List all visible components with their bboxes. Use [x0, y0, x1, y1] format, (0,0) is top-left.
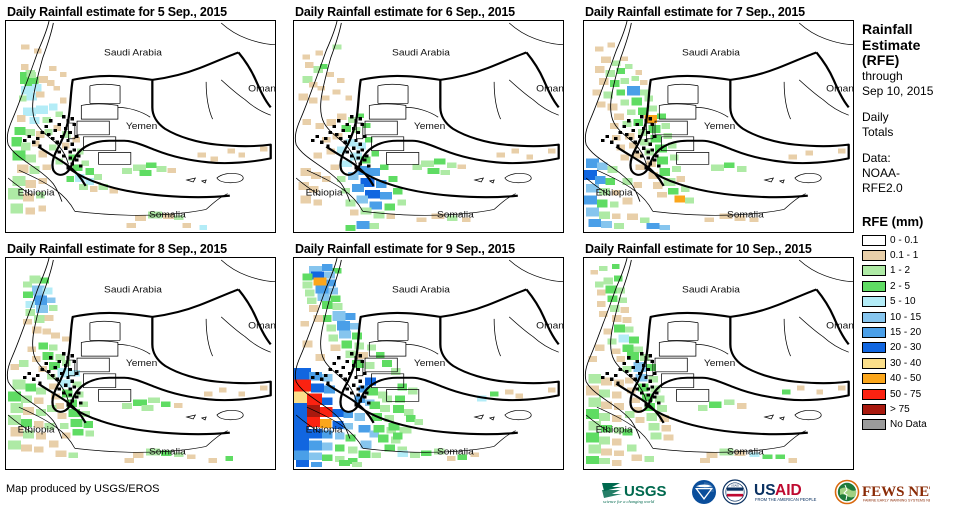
legend-label: 15 - 20 — [890, 327, 921, 338]
legend-label: 20 - 30 — [890, 342, 921, 353]
usgs-logo: USGS science for a changing world — [600, 479, 686, 505]
fews-net-logo: FEWS NET FAMINE EARLY WARNING SYSTEMS NE… — [834, 479, 930, 505]
legend-label: 2 - 5 — [890, 281, 910, 292]
legend-item: 30 - 40 — [862, 356, 967, 371]
panel-10-sep-map[interactable]: Saudi ArabiaOmanYemenEthiopiaSomalia — [583, 257, 854, 470]
country-label-somalia: Somalia — [437, 447, 474, 457]
data-source-label: Data: — [862, 151, 967, 166]
legend-item: 20 - 30 — [862, 340, 967, 355]
rfe-title-line2: Estimate — [862, 38, 967, 54]
legend-label: 0.1 - 1 — [890, 250, 918, 261]
rfe-title-line1: Rainfall — [862, 22, 967, 38]
legend-swatch — [862, 389, 886, 400]
map-credit-text: Map produced by USGS/EROS — [6, 483, 159, 495]
country-label-oman: Oman — [826, 321, 853, 331]
country-label-yemen: Yemen — [704, 121, 735, 131]
legend-swatch — [862, 265, 886, 276]
country-label-ethiopia: Ethiopia — [18, 188, 55, 198]
legend-item: 15 - 20 — [862, 325, 967, 340]
country-label-saudi-arabia: Saudi Arabia — [392, 285, 450, 295]
country-label-somalia: Somalia — [727, 447, 764, 457]
legend-swatch — [862, 312, 886, 323]
country-label-saudi-arabia: Saudi Arabia — [682, 285, 740, 295]
country-label-oman: Oman — [536, 321, 563, 331]
legend-item: 40 - 50 — [862, 371, 967, 386]
panel-5-sep-title: Daily Rainfall estimate for 5 Sep., 2015 — [7, 5, 227, 19]
legend-swatch — [862, 250, 886, 261]
panel-8-sep-title: Daily Rainfall estimate for 8 Sep., 2015 — [7, 242, 227, 256]
panel-7-sep-title: Daily Rainfall estimate for 7 Sep., 2015 — [585, 5, 805, 19]
country-label-yemen: Yemen — [414, 121, 445, 131]
panel-6-sep-map[interactable]: Saudi ArabiaOmanYemenEthiopiaSomalia — [293, 20, 564, 233]
svg-text:USGS: USGS — [624, 483, 667, 500]
legend-label: 1 - 2 — [890, 265, 910, 276]
legend-item: 5 - 10 — [862, 294, 967, 309]
panel-10-sep-title: Daily Rainfall estimate for 10 Sep., 201… — [585, 242, 812, 256]
country-label-somalia: Somalia — [149, 447, 186, 457]
country-label-saudi-arabia: Saudi Arabia — [682, 48, 740, 58]
country-label-oman: Oman — [826, 84, 853, 94]
panel-7-sep-map[interactable]: Saudi ArabiaOmanYemenEthiopiaSomalia — [583, 20, 854, 233]
legend-label: 5 - 10 — [890, 296, 916, 307]
country-label-somalia: Somalia — [149, 210, 186, 220]
svg-text:FROM THE AMERICAN PEOPLE: FROM THE AMERICAN PEOPLE — [755, 497, 817, 502]
panel-9-sep: Daily Rainfall estimate for 9 Sep., 2015… — [293, 242, 515, 256]
country-label-somalia: Somalia — [437, 210, 474, 220]
country-label-yemen: Yemen — [704, 358, 735, 368]
svg-text:FAMINE EARLY WARNING SYSTEMS N: FAMINE EARLY WARNING SYSTEMS NETWORK — [863, 499, 930, 503]
legend-item: 0 - 0.1 — [862, 233, 967, 248]
country-label-yemen: Yemen — [414, 358, 445, 368]
country-label-ethiopia: Ethiopia — [306, 425, 343, 435]
country-label-saudi-arabia: Saudi Arabia — [104, 48, 162, 58]
country-label-ethiopia: Ethiopia — [596, 425, 633, 435]
country-label-yemen: Yemen — [126, 121, 157, 131]
legend-item: 0.1 - 1 — [862, 248, 967, 263]
country-label-saudi-arabia: Saudi Arabia — [392, 48, 450, 58]
legend-swatch — [862, 342, 886, 353]
legend-rows: 0 - 0.10.1 - 11 - 22 - 55 - 1010 - 1515 … — [862, 233, 967, 433]
rfe-through-label: through — [862, 69, 967, 84]
rainfall-map-svg: Saudi ArabiaOmanYemenEthiopiaSomalia — [584, 21, 853, 232]
legend-label: 10 - 15 — [890, 312, 921, 323]
rfe-title-line3: (RFE) — [862, 53, 967, 69]
right-information-column: Rainfall Estimate (RFE) through Sep 10, … — [862, 0, 967, 511]
country-label-oman: Oman — [536, 84, 563, 94]
panel-8-sep-map[interactable]: Saudi ArabiaOmanYemenEthiopiaSomalia — [5, 257, 276, 470]
panel-6-sep: Daily Rainfall estimate for 6 Sep., 2015… — [293, 5, 515, 19]
legend-label: > 75 — [890, 404, 910, 415]
usaid-wordmark: US AID FROM THE AMERICAN PEOPLE — [753, 479, 829, 505]
country-label-yemen: Yemen — [126, 358, 157, 368]
country-label-somalia: Somalia — [727, 210, 764, 220]
country-label-ethiopia: Ethiopia — [306, 188, 343, 198]
legend-item: 50 - 75 — [862, 386, 967, 401]
legend-swatch — [862, 281, 886, 292]
svg-text:science for a changing world: science for a changing world — [603, 499, 655, 504]
country-label-ethiopia: Ethiopia — [596, 188, 633, 198]
legend-swatch — [862, 419, 886, 430]
legend-title: RFE (mm) — [862, 214, 967, 229]
legend-swatch — [862, 404, 886, 415]
panel-6-sep-title: Daily Rainfall estimate for 6 Sep., 2015 — [295, 5, 515, 19]
svg-text:USAID: USAID — [731, 483, 739, 487]
legend-label: 40 - 50 — [890, 373, 921, 384]
panel-7-sep: Daily Rainfall estimate for 7 Sep., 2015… — [583, 5, 805, 19]
legend-swatch — [862, 296, 886, 307]
legend-item: > 75 — [862, 402, 967, 417]
panel-9-sep-map[interactable]: Saudi ArabiaOmanYemenEthiopiaSomalia — [293, 257, 564, 470]
legend-item: 2 - 5 — [862, 279, 967, 294]
rainfall-map-svg: Saudi ArabiaOmanYemenEthiopiaSomalia — [6, 21, 275, 232]
data-source-line2: NOAA- — [862, 166, 967, 181]
logo-bar: USGS science for a changing world USAID … — [600, 477, 930, 507]
svg-text:FEWS NET: FEWS NET — [862, 484, 930, 500]
legend-label: 50 - 75 — [890, 389, 921, 400]
rainfall-map-svg: Saudi ArabiaOmanYemenEthiopiaSomalia — [584, 258, 853, 469]
panel-8-sep: Daily Rainfall estimate for 8 Sep., 2015… — [5, 242, 227, 256]
country-label-oman: Oman — [248, 321, 275, 331]
country-label-ethiopia: Ethiopia — [18, 425, 55, 435]
panel-9-sep-title: Daily Rainfall estimate for 9 Sep., 2015 — [295, 242, 515, 256]
panel-10-sep: Daily Rainfall estimate for 10 Sep., 201… — [583, 242, 812, 256]
panel-5-sep: Daily Rainfall estimate for 5 Sep., 2015… — [5, 5, 227, 19]
legend-swatch — [862, 358, 886, 369]
country-label-saudi-arabia: Saudi Arabia — [104, 285, 162, 295]
legend-item: 10 - 15 — [862, 309, 967, 324]
legend-swatch — [862, 235, 886, 246]
panel-5-sep-map[interactable]: Saudi ArabiaOmanYemenEthiopiaSomalia — [5, 20, 276, 233]
usaid-seal-icon: USAID — [722, 479, 748, 505]
legend-swatch — [862, 327, 886, 338]
data-source-line3: RFE2.0 — [862, 181, 967, 196]
totals-line2: Totals — [862, 125, 967, 140]
totals-line1: Daily — [862, 110, 967, 125]
rainfall-map-svg: Saudi ArabiaOmanYemenEthiopiaSomalia — [6, 258, 275, 469]
legend-item: No Data — [862, 417, 967, 432]
legend-label: No Data — [890, 419, 927, 430]
country-label-oman: Oman — [248, 84, 275, 94]
rainfall-map-svg: Saudi ArabiaOmanYemenEthiopiaSomalia — [294, 21, 563, 232]
rainfall-map-svg: Saudi ArabiaOmanYemenEthiopiaSomalia — [294, 258, 563, 469]
legend-label: 30 - 40 — [890, 358, 921, 369]
noaa-logo — [691, 479, 717, 505]
legend-item: 1 - 2 — [862, 263, 967, 278]
legend-swatch — [862, 373, 886, 384]
rfe-through-date: Sep 10, 2015 — [862, 84, 967, 99]
legend-label: 0 - 0.1 — [890, 235, 918, 246]
